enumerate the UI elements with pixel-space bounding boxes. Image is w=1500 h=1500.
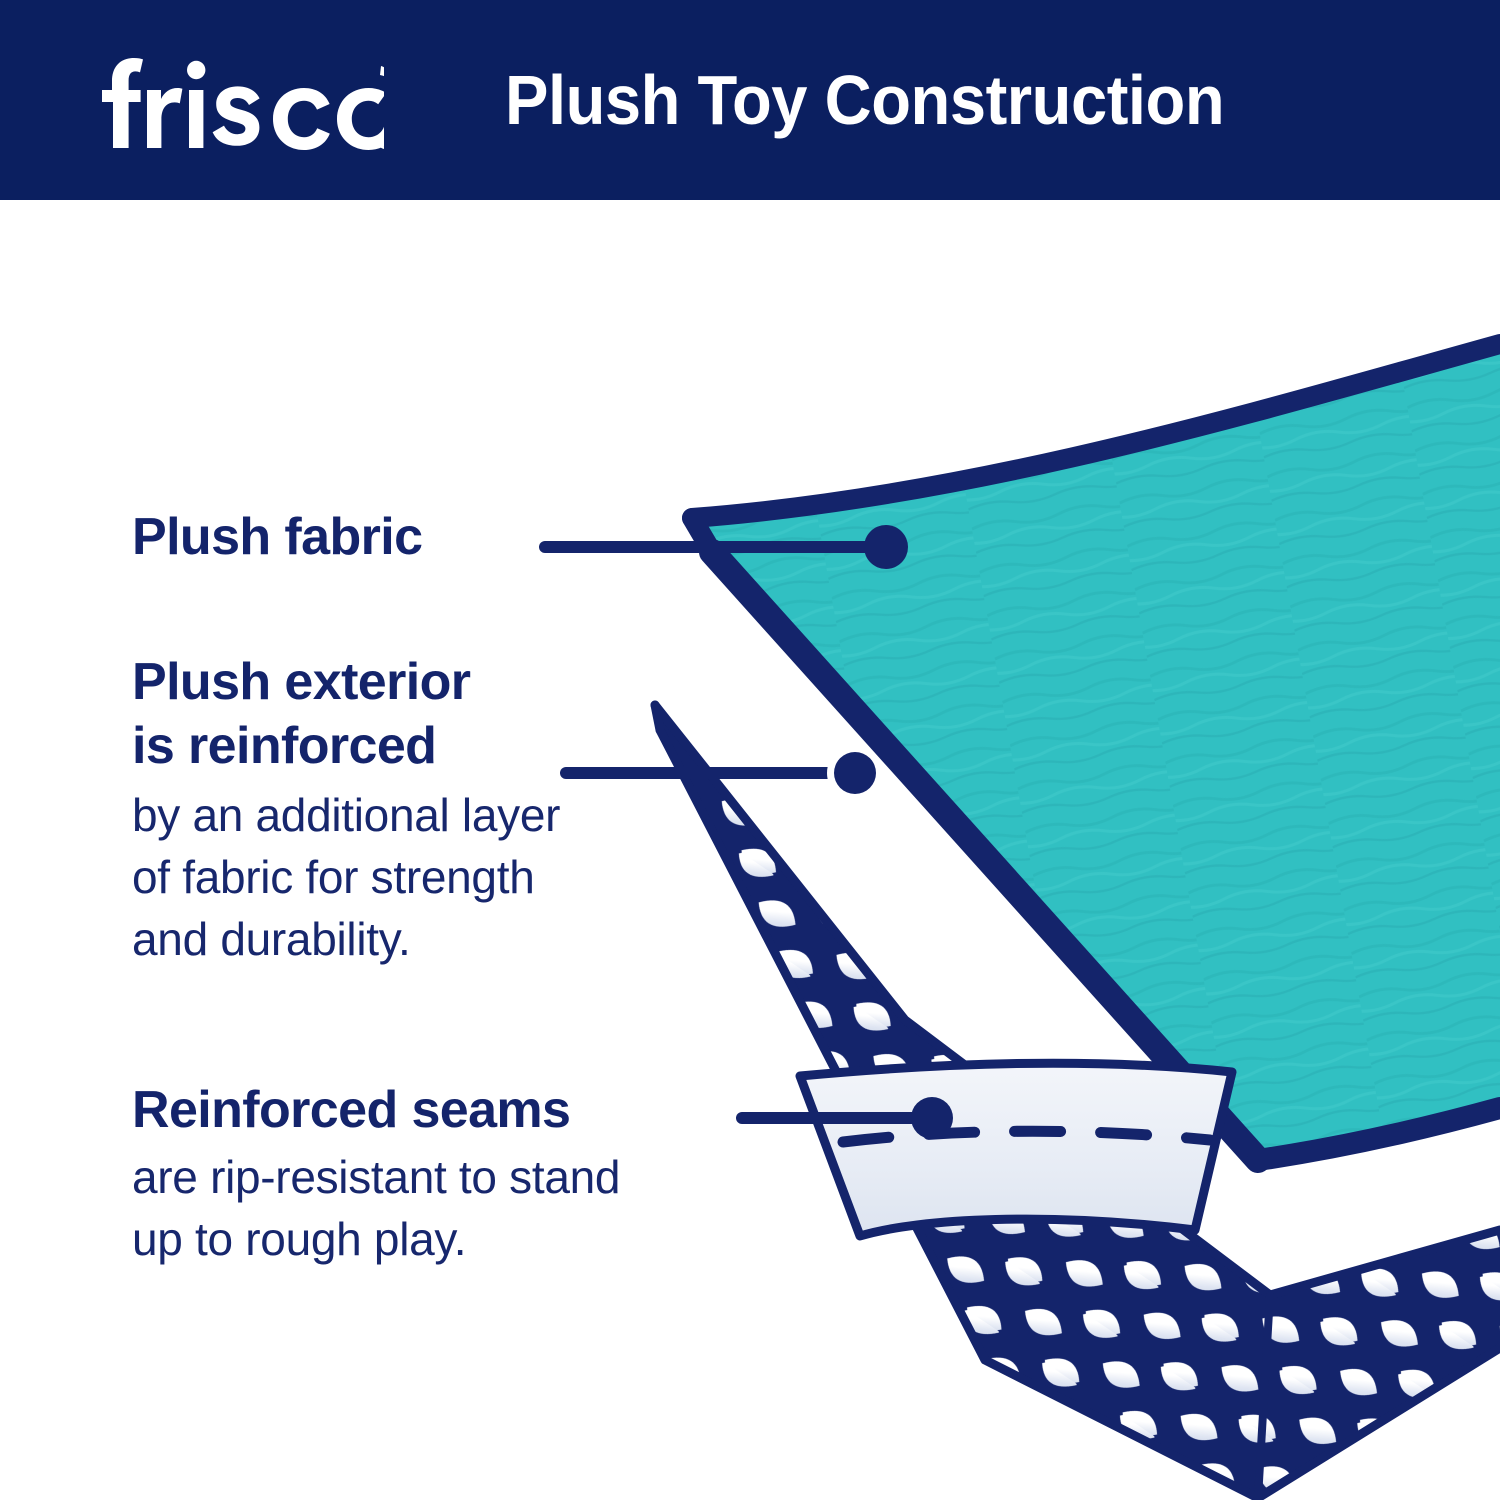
connector-dot-reinforced-seams: [911, 1097, 953, 1139]
header-bar: R Plush Toy Construction: [0, 0, 1500, 200]
svg-text:R: R: [382, 136, 384, 148]
callout-heading-reinforced-seams: Reinforced seams: [132, 1078, 620, 1142]
page-title: Plush Toy Construction: [505, 50, 1224, 150]
callout-body-reinforced-seams: are rip-resistant to stand up to rough p…: [132, 1146, 620, 1270]
connector-dot-plush-exterior: [834, 752, 876, 794]
callout-body-plush-exterior: by an additional layer of fabric for str…: [132, 784, 560, 970]
callout-plush-exterior: Plush exterior is reinforced by an addit…: [132, 650, 560, 970]
connector-dot-plush-fabric: [864, 525, 908, 569]
callout-plush-fabric: Plush fabric: [132, 505, 422, 569]
callout-reinforced-seams: Reinforced seams are rip-resistant to st…: [132, 1078, 620, 1270]
plush-fabric-panel: [692, 344, 1500, 1160]
callout-heading-plush-exterior: Plush exterior is reinforced: [132, 650, 560, 778]
infographic-canvas: R Plush Toy Construction: [0, 0, 1500, 1500]
reinforced-seam-flap: [800, 1063, 1232, 1236]
frisco-logo: R: [84, 46, 384, 154]
callout-heading-plush-fabric: Plush fabric: [132, 505, 422, 569]
